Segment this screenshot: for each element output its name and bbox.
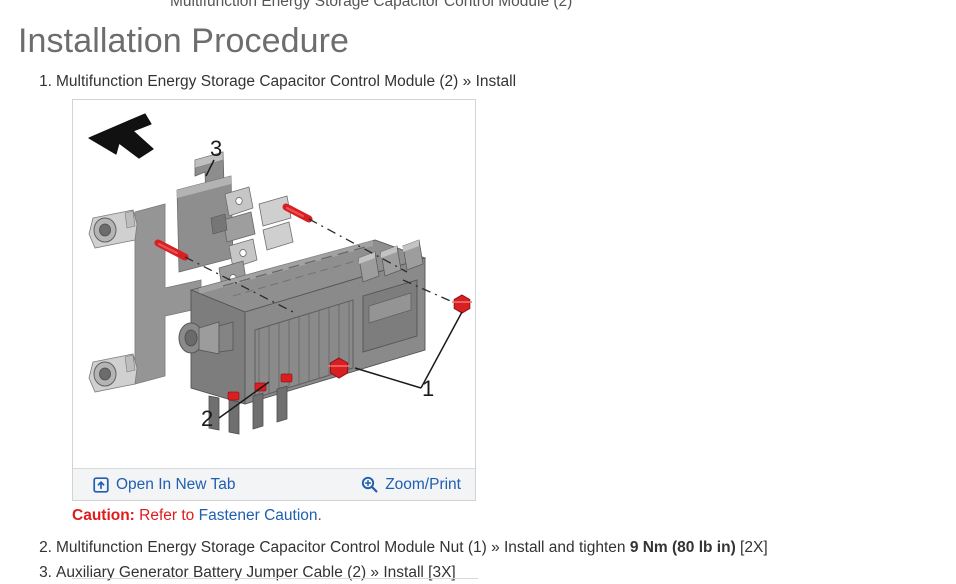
caution-text-after: . xyxy=(318,507,322,524)
step-number: 3. xyxy=(30,562,52,584)
round-connector xyxy=(179,322,233,354)
step-text-segment: Multifunction Energy Storage Capacitor C… xyxy=(56,539,630,556)
figure-container: 1 2 3 Open In New Tab xyxy=(72,99,476,501)
clipped-top-text: Multifunction Energy Storage Capacitor C… xyxy=(170,0,572,11)
zoom-print-button[interactable]: Zoom/Print xyxy=(361,476,461,494)
step-number: 2. xyxy=(30,537,52,559)
callout-label-2: 2 xyxy=(201,406,213,431)
figure-image[interactable]: 1 2 3 xyxy=(73,100,475,468)
caution-label: Caution: xyxy=(72,507,135,524)
bottom-divider xyxy=(72,578,478,579)
callout-label-3: 3 xyxy=(210,136,222,161)
step-text-segment: [2X] xyxy=(736,539,768,556)
list-item: 2. Multifunction Energy Storage Capacito… xyxy=(0,537,956,559)
zoom-print-label: Zoom/Print xyxy=(385,476,461,494)
torque-value: 9 Nm (80 lb in) xyxy=(630,539,736,556)
caution-note: Caution: Refer to Fastener Caution. xyxy=(72,506,956,526)
caution-text-before: Refer to xyxy=(135,507,199,524)
list-item: 3. Auxiliary Generator Battery Jumper Ca… xyxy=(0,562,956,584)
exploded-diagram-svg: 1 2 3 xyxy=(73,100,475,468)
figure-toolbar: Open In New Tab Zoom/Print xyxy=(73,468,475,500)
callout-label-1: 1 xyxy=(422,376,434,401)
step-text: Multifunction Energy Storage Capacitor C… xyxy=(56,539,768,556)
list-item: 1. Multifunction Energy Storage Capacito… xyxy=(0,71,956,93)
page-title: Installation Procedure xyxy=(18,21,956,61)
open-in-new-tab-label: Open In New Tab xyxy=(116,476,235,494)
magnifier-plus-icon xyxy=(361,476,378,493)
steps-list-after-figure: 2. Multifunction Energy Storage Capacito… xyxy=(0,537,956,584)
open-in-new-tab-icon xyxy=(93,477,109,493)
steps-list-before-figure: 1. Multifunction Energy Storage Capacito… xyxy=(0,71,956,93)
open-in-new-tab-button[interactable]: Open In New Tab xyxy=(93,476,235,494)
clipped-top-text-row: Multifunction Energy Storage Capacitor C… xyxy=(0,0,956,13)
fastener-caution-link[interactable]: Fastener Caution xyxy=(199,507,318,524)
step-text: Multifunction Energy Storage Capacitor C… xyxy=(56,73,516,90)
step-number: 1. xyxy=(30,71,52,93)
